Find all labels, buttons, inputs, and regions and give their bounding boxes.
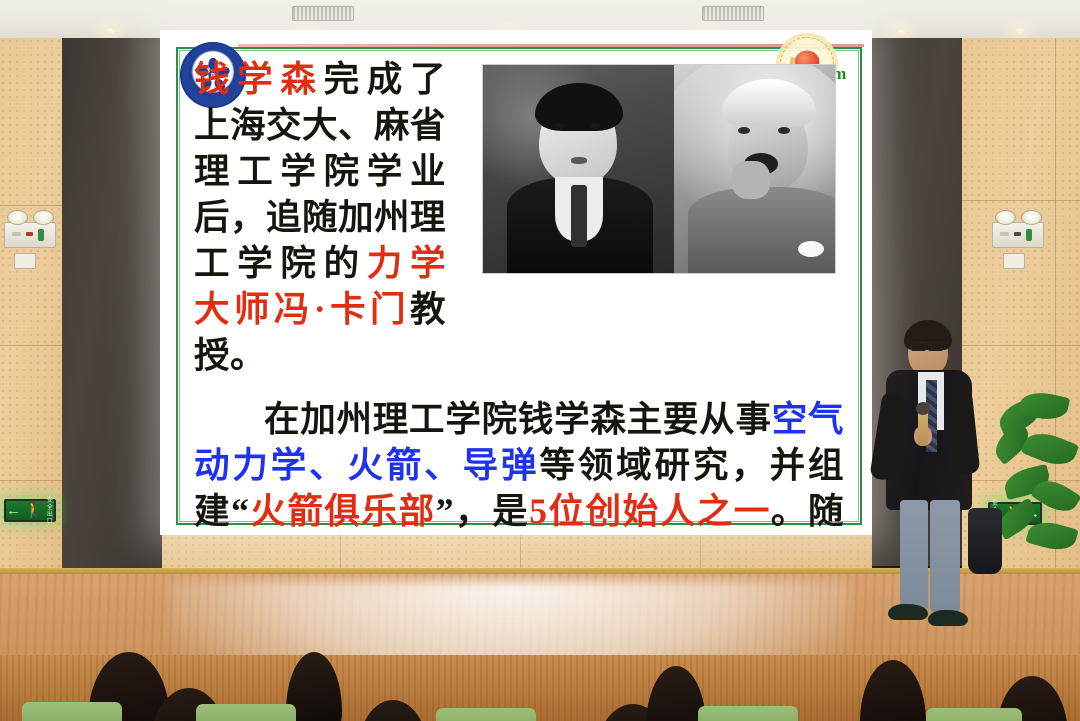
presenter-glasses-icon <box>911 342 926 351</box>
ceiling-vent <box>702 6 764 21</box>
presenter-leg-left <box>900 500 928 610</box>
downlight <box>1012 27 1028 36</box>
exit-sign-left: ← 🚶 安全出口 <box>4 499 56 522</box>
audience-chair-front <box>22 702 122 721</box>
emergency-light-right <box>992 222 1044 248</box>
p2-run-1: 在加州理工学院钱学森主要从事 <box>264 399 772 439</box>
presenter-shoe-left <box>888 604 928 620</box>
audience-chair-front <box>926 708 1022 721</box>
presenter <box>880 318 1000 640</box>
panel-seam <box>962 200 1080 201</box>
audience-chair-front <box>698 706 798 721</box>
arrow-left-icon: ← <box>6 503 21 518</box>
presenter-glasses-icon <box>928 342 943 351</box>
microphone <box>918 410 928 446</box>
slide-paragraph-1: 钱学森完成了上海交大、麻省理工学院学业后，追随加州理工学院的力学大师冯·卡门教授… <box>194 56 446 378</box>
presenter-leg-right <box>930 500 960 612</box>
panel-seam <box>0 345 62 346</box>
microphone-head <box>916 402 930 415</box>
wall-panel-left <box>0 38 62 628</box>
downlight <box>103 27 119 36</box>
presenter-shoe-right <box>928 610 968 626</box>
wall-socket-right <box>1003 253 1025 269</box>
floor-bag <box>968 508 1002 574</box>
p2-run-4: 火箭俱乐部 <box>249 491 435 531</box>
panel-seam <box>0 205 62 206</box>
p2-run-6: 5位创始人之一 <box>529 491 771 531</box>
lecture-hall-scene: ← 🚶 安全出口 安全出口 🚶 → <box>0 0 1080 721</box>
ceiling-vent <box>292 6 354 21</box>
projection-screen: 美食宝库www.meyet.com <box>160 30 872 535</box>
p2-run-5: ”，是 <box>436 491 529 531</box>
running-person-icon: 🚶 <box>24 503 43 518</box>
dark-curtain-left <box>62 38 162 573</box>
slide-content: 美食宝库www.meyet.com <box>160 30 872 535</box>
slide-paragraph-2: 在加州理工学院钱学森主要从事空气动力学、火箭、导弹等领域研究，并组建“火箭俱乐部… <box>194 396 844 535</box>
panel-seam <box>0 480 62 481</box>
p1-run-1: 钱学森 <box>194 59 324 99</box>
exit-sign-left-label: 安全出口 <box>46 497 54 525</box>
potted-plant <box>990 395 1080 580</box>
audience-chair-front <box>196 704 296 721</box>
wall-socket-left <box>14 253 36 269</box>
emergency-light-left <box>4 222 56 248</box>
audience-chair-front <box>436 708 536 721</box>
slide-text-body: 钱学森完成了上海交大、麻省理工学院学业后，追随加州理工学院的力学大师冯·卡门教授… <box>194 56 844 535</box>
downlight <box>893 28 909 37</box>
